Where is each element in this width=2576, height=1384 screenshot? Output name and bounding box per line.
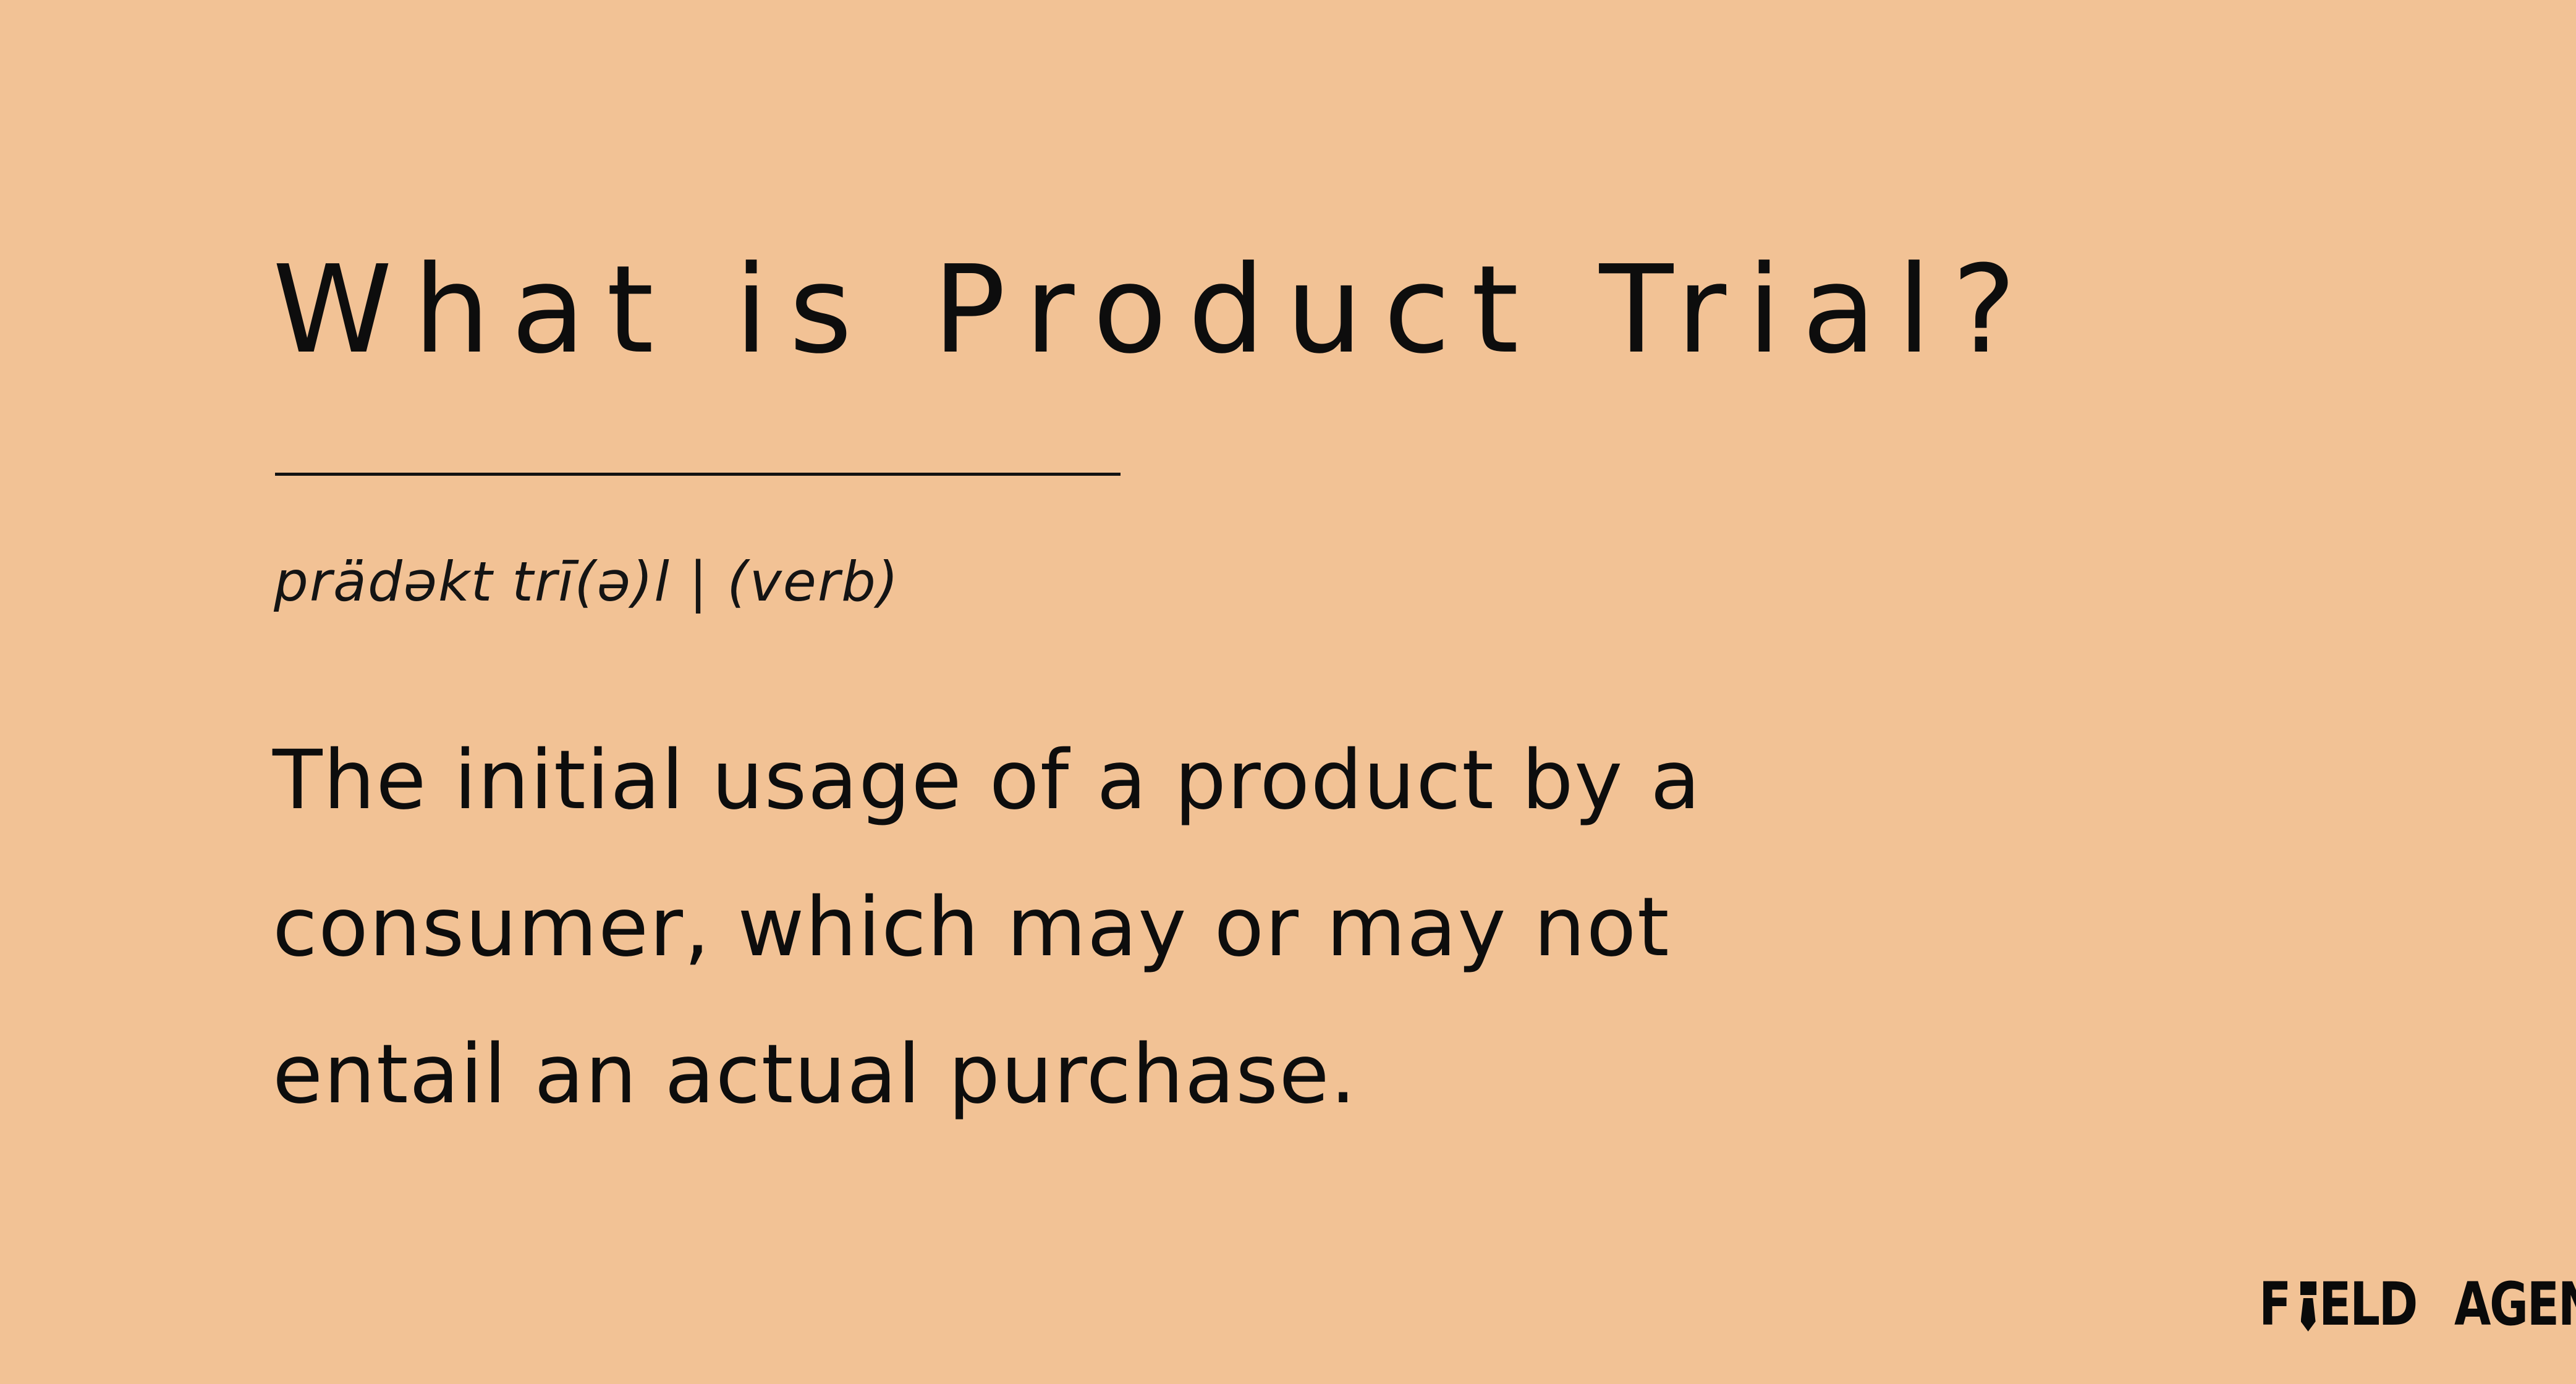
definition-text: The initial usage of a product by a cons… [273, 707, 2201, 1148]
definition-line-1: The initial usage of a product by a [273, 707, 2201, 854]
logo-text-agent: AGENT [2454, 1278, 2576, 1331]
necktie-knot [2300, 1281, 2316, 1295]
definition-line-3: entail an actual purchase. [273, 1001, 2201, 1148]
necktie-blade [2301, 1298, 2316, 1331]
slide-canvas: What is Product Trial? prädəkt trī(ə)l |… [0, 0, 2576, 1384]
definition-line-2: consumer, which may or may not [273, 854, 2201, 1001]
field-agent-logo: F ELD AGENT ® [2259, 1278, 2576, 1331]
logo-text-eld: ELD [2319, 1278, 2417, 1331]
pronunciation-line: prädəkt trī(ə)l | (verb) [274, 555, 899, 609]
logo-text-f: F [2259, 1278, 2290, 1331]
title-divider-rule [275, 473, 1121, 476]
page-title: What is Product Trial? [273, 250, 2037, 371]
